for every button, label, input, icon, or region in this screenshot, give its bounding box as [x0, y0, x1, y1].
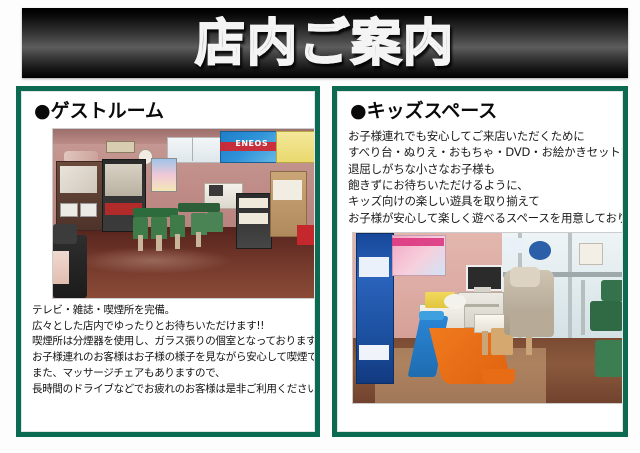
photo-green-chair-3 [601, 280, 624, 300]
caption-line: 喫煙所は分煙器を使用し、ガラス張りの個室となっておりますので [32, 334, 306, 350]
photo-white-ball [444, 294, 466, 309]
panel-kids-space-heading: ●キッズスペース [350, 101, 614, 122]
photo-banner-graphic-1 [359, 257, 389, 277]
panel-guest-room-inner: ●ゲストルーム ENEOS [21, 91, 315, 432]
kids-space-photo [352, 232, 623, 404]
photo-shelf-item-2 [239, 213, 268, 223]
photo-eneos-banner-text: ENEOS [223, 139, 281, 148]
description-line: キッズ向けの楽しい遊具を取り揃えて [348, 193, 614, 209]
photo-chair-leg-2 [156, 235, 161, 250]
photo-support-pole [581, 280, 585, 334]
photo-cabinet-glass [60, 166, 97, 193]
panel-guest-room: ●ゲストルーム ENEOS [16, 86, 320, 437]
page-title-banner: 店内ご案内 [22, 8, 628, 78]
photo-banner-graphic-2 [359, 345, 389, 360]
photo-chair-leg-4 [196, 232, 201, 247]
photo-green-chair-2 [595, 340, 623, 377]
photo-yellow-banner [276, 131, 315, 163]
description-line: お子様が安心して楽しく遊べるスペースを用意しております。 [348, 210, 614, 226]
photo-table-leg-1 [482, 331, 488, 355]
photo-window-notice-3 [507, 238, 524, 253]
photo-green-chair-5 [207, 212, 223, 232]
photo-wall-sign [106, 141, 135, 153]
description-line: すべり台・ぬりえ・おもちゃ・DVD・お絵かきセットなど、 [348, 144, 614, 160]
panel-kids-space: ●キッズスペース お子様連れでも安心してご来店いただくために すべり台・ぬりえ・… [332, 86, 628, 437]
photo-window-frame-2 [568, 233, 572, 338]
description-line: 退屈しがちな小さなお子様も [348, 161, 614, 177]
photo-shelf-item-1 [239, 198, 268, 208]
photo-floor-glare [74, 247, 233, 274]
caption-line: テレビ・雑誌・喫煙所を完備。 [32, 303, 306, 319]
photo-counter-monitor [209, 185, 222, 197]
photo-tv-cabinet-shelf [460, 304, 499, 307]
panel-kids-space-inner: ●キッズスペース お子様連れでも安心してご来店いただくために すべり台・ぬりえ・… [337, 91, 623, 432]
photo-chair-leg-3 [175, 234, 180, 249]
photo-cabinet-drawer-2 [80, 203, 98, 217]
caption-line: 広々とした店内でゆったりとお待ちいただけます!! [32, 319, 306, 335]
photo-wall-poster [151, 158, 177, 192]
caption-line: お子様連れのお客様はお子様の様子を見ながら安心して喫煙できます。 [32, 350, 306, 366]
panel-guest-room-heading: ●ゲストルーム [34, 101, 306, 122]
description-line: 飽きずにお待ちいただけるように、 [348, 177, 614, 193]
description-line: お子様連れでも安心してご来店いただくために [348, 128, 614, 144]
photo-chair-leg-1 [138, 235, 143, 250]
photo-rack-item [273, 180, 302, 200]
photo-blue-banner-stand [356, 233, 394, 385]
photo-magazine-stack [53, 251, 69, 285]
caption-line: また、マッサージチェアもありますので、 [32, 366, 306, 382]
caption-line: 長時間のドライブなどでお疲れのお客様は是非ご利用ください。 [32, 382, 306, 398]
photo-red-box [297, 225, 315, 245]
photo-massage-chair-headrest [510, 267, 540, 287]
photo-massage-chair-back [53, 224, 77, 244]
photo-window-mullion [192, 137, 193, 161]
guest-room-photo: ENEOS [52, 128, 315, 299]
guest-room-caption: テレビ・雑誌・喫煙所を完備。 広々とした店内でゆったりとお待ちいただけます!! … [32, 303, 306, 398]
photo-massage-chair-base [510, 309, 554, 336]
photo-window-notice-1 [579, 243, 603, 265]
photo-slide-top [419, 311, 444, 320]
photo-slide-end [482, 369, 515, 384]
page-title: 店内ご案内 [195, 18, 455, 68]
photo-window-notice-2 [529, 241, 551, 260]
photo-vending-window [105, 164, 142, 196]
photo-cabinet-drawer [60, 203, 78, 217]
photo-table-2 [178, 203, 220, 211]
photo-green-chair-1 [590, 301, 623, 332]
kids-space-description: お子様連れでも安心してご来店いただくために すべり台・ぬりえ・おもちゃ・DVD・… [348, 128, 614, 226]
photo-poster-headline [392, 238, 444, 247]
